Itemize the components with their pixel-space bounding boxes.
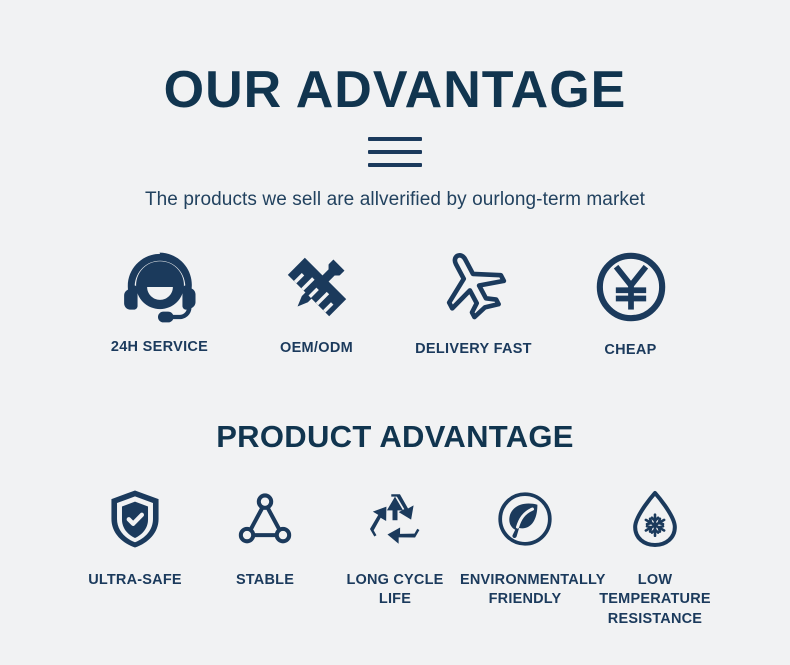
feature-label: LOW TEMPERATURE RESISTANCE [590,571,720,630]
page-subtitle: The products we sell are allverified by … [0,167,790,211]
feature-label: ENVIRONMENTALLY FRIENDLY [460,571,590,610]
feature-item-24h-service: 24H SERVICE [81,239,238,358]
feature-item-cheap: CHEAP [552,239,709,361]
product-feature-row: ULTRA-SAFE STABLE [0,455,790,630]
divider-bar [368,163,422,167]
headset-service-icon [81,239,238,335]
feature-item-oem-odm: OEM/ODM [238,239,395,359]
title-divider [368,137,422,167]
section-title-product-advantage: PRODUCT ADVANTAGE [0,361,790,455]
feature-label: 24H SERVICE [81,338,238,358]
advantage-page: OUR ADVANTAGE The products we sell are a… [0,0,790,665]
feature-item-environmentally-friendly: ENVIRONMENTALLY FRIENDLY [460,481,590,610]
advantage-feature-row: 24H SERVICE [0,211,790,361]
feature-label: STABLE [200,571,330,591]
feature-item-long-cycle-life: LONG CYCLE LIFE [330,481,460,610]
divider-bar [368,137,422,141]
shield-check-icon [70,481,200,557]
recycle-icon [330,481,460,557]
feature-label: CHEAP [552,341,709,361]
yen-coin-icon [552,239,709,335]
feature-item-stable: STABLE [200,481,330,591]
feature-item-low-temperature-resistance: LOW TEMPERATURE RESISTANCE [590,481,720,630]
page-title: OUR ADVANTAGE [0,0,790,119]
airplane-icon [395,239,552,335]
divider-bar [368,150,422,154]
leaf-circle-icon [460,481,590,557]
feature-label: DELIVERY FAST [395,340,552,360]
feature-label: OEM/ODM [238,339,395,359]
feature-item-delivery-fast: DELIVERY FAST [395,239,552,360]
feature-label: LONG CYCLE LIFE [330,571,460,610]
feature-item-ultra-safe: ULTRA-SAFE [70,481,200,591]
feature-label: ULTRA-SAFE [70,571,200,591]
pencil-ruler-icon [238,239,395,335]
triangle-nodes-icon [200,481,330,557]
snowflake-droplet-icon [590,481,720,557]
